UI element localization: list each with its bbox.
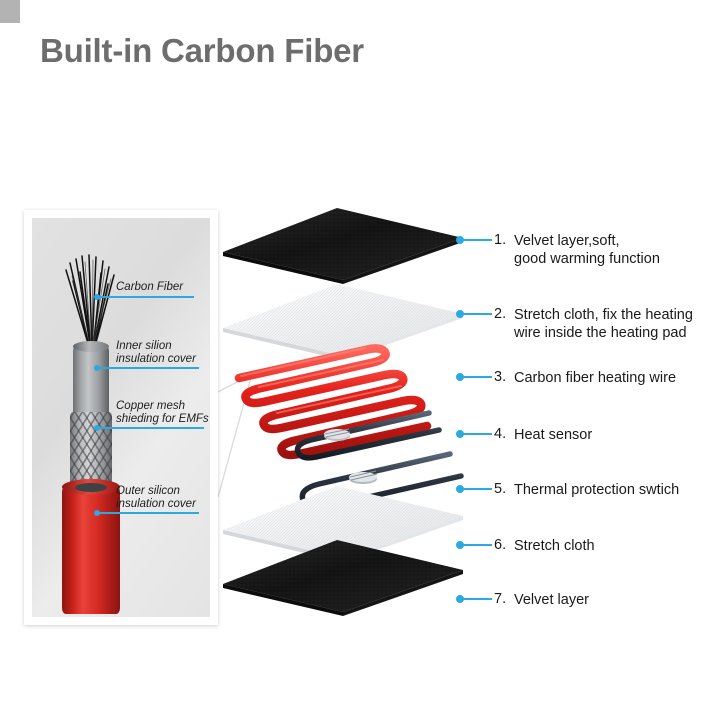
heat-sensor-bead: [324, 429, 350, 441]
leader-line-2: [462, 313, 492, 315]
layer-stretch-cloth-top: [223, 284, 463, 360]
cable-label-line-copper-mesh: [99, 427, 204, 429]
page-title: Built-in Carbon Fiber: [40, 32, 364, 70]
exploded-layer-stack: [215, 200, 485, 630]
callout-text-1: Velvet layer,soft, good warming function: [514, 232, 660, 268]
cable-label-line-outer-cover: [99, 512, 199, 514]
cable-label-line-inner-cover: [99, 367, 199, 369]
leader-line-6: [462, 544, 492, 546]
callout-text-6: Stretch cloth: [514, 537, 595, 555]
callout-text-4: Heat sensor: [514, 426, 592, 444]
cable-label-carbon-fiber: Carbon Fiber: [116, 281, 183, 294]
callout-text-2: Stretch cloth, fix the heating wire insi…: [514, 306, 693, 342]
corner-marker-block: [0, 0, 20, 23]
infographic-page: Built-in Carbon Fiber: [0, 0, 720, 720]
callout-text-5: Thermal protection swtich: [514, 481, 679, 499]
cable-magnifier-inner: Carbon Fiber Inner silion insulation cov…: [32, 218, 210, 617]
leader-line-3: [462, 376, 492, 378]
layer-velvet-top: [223, 208, 463, 284]
cable-illustration: [60, 254, 122, 614]
layer-velvet-bottom: [223, 540, 463, 616]
inner-silicone-tube: [73, 346, 109, 418]
leader-line-4: [462, 433, 492, 435]
cable-label-outer-cover: Outer silicon insulation cover: [116, 485, 196, 510]
outer-silicone-jacket: [62, 486, 120, 614]
cable-label-line-carbon-fiber: [99, 296, 194, 298]
leader-line-5: [462, 488, 492, 490]
callout-text-7: Velvet layer: [514, 591, 589, 609]
cable-magnifier-panel: Carbon Fiber Inner silion insulation cov…: [24, 210, 218, 625]
leader-line-1: [462, 239, 492, 241]
cable-label-inner-cover: Inner silion insulation cover: [116, 340, 196, 365]
leader-line-7: [462, 598, 492, 600]
callout-text-3: Carbon fiber heating wire: [514, 369, 676, 387]
cable-label-copper-mesh: Copper mesh shieding for EMFs: [116, 400, 209, 425]
carbon-fiber-strands-icon: [60, 254, 122, 352]
